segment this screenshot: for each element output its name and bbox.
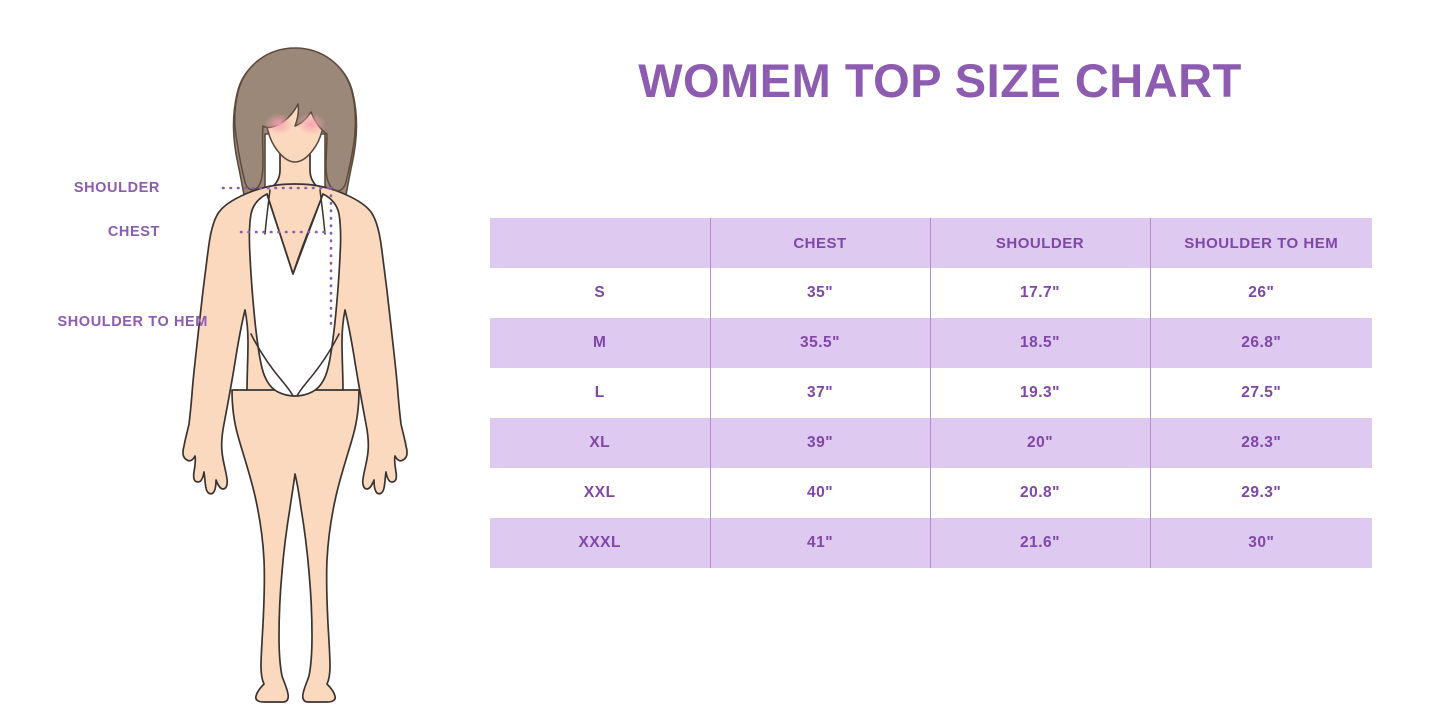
measurement-label-chest: CHEST [108, 224, 160, 240]
measurement-label-shoulder: SHOULDER [74, 180, 160, 196]
size-chart-table: CHEST SHOULDER SHOULDER TO HEM S35"17.7"… [490, 218, 1372, 568]
cell-shoulder-to-hem: 27.5" [1150, 368, 1372, 418]
cell-size: M [490, 318, 710, 368]
column-header-size [490, 218, 710, 268]
cell-chest: 37" [710, 368, 930, 418]
table-row: XXXL41"21.6"30" [490, 518, 1372, 568]
table-header-row: CHEST SHOULDER SHOULDER TO HEM [490, 218, 1372, 268]
blush-right-cheek [296, 113, 326, 135]
table-row: L37"19.3"27.5" [490, 368, 1372, 418]
cell-chest: 35.5" [710, 318, 930, 368]
cell-shoulder: 19.3" [930, 368, 1150, 418]
cell-size: XXXL [490, 518, 710, 568]
table-row: S35"17.7"26" [490, 268, 1372, 318]
column-header-chest: CHEST [710, 218, 930, 268]
cell-chest: 41" [710, 518, 930, 568]
cell-shoulder-to-hem: 29.3" [1150, 468, 1372, 518]
page-title: WOMEM TOP SIZE CHART [470, 53, 1410, 108]
cell-shoulder-to-hem: 28.3" [1150, 418, 1372, 468]
cell-chest: 35" [710, 268, 930, 318]
female-body-figure [175, 38, 415, 703]
cell-shoulder: 18.5" [930, 318, 1150, 368]
cell-size: L [490, 368, 710, 418]
table-row: XL39"20"28.3" [490, 418, 1372, 468]
cell-shoulder-to-hem: 26.8" [1150, 318, 1372, 368]
cell-size: XXL [490, 468, 710, 518]
column-header-shoulder-to-hem: SHOULDER TO HEM [1150, 218, 1372, 268]
cell-chest: 39" [710, 418, 930, 468]
cell-shoulder: 21.6" [930, 518, 1150, 568]
table-row: M35.5"18.5"26.8" [490, 318, 1372, 368]
cell-size: S [490, 268, 710, 318]
illustration-panel: SHOULDER CHEST SHOULDER TO HEM [0, 0, 470, 723]
cell-shoulder-to-hem: 26" [1150, 268, 1372, 318]
legs [232, 390, 359, 702]
measurement-label-shoulder-to-hem: SHOULDER TO HEM [57, 314, 208, 330]
cell-shoulder-to-hem: 30" [1150, 518, 1372, 568]
table-row: XXL40"20.8"29.3" [490, 468, 1372, 518]
column-header-shoulder: SHOULDER [930, 218, 1150, 268]
cell-shoulder: 17.7" [930, 268, 1150, 318]
cell-shoulder: 20" [930, 418, 1150, 468]
cell-chest: 40" [710, 468, 930, 518]
cell-shoulder: 20.8" [930, 468, 1150, 518]
blush-left-cheek [264, 113, 294, 135]
cell-size: XL [490, 418, 710, 468]
